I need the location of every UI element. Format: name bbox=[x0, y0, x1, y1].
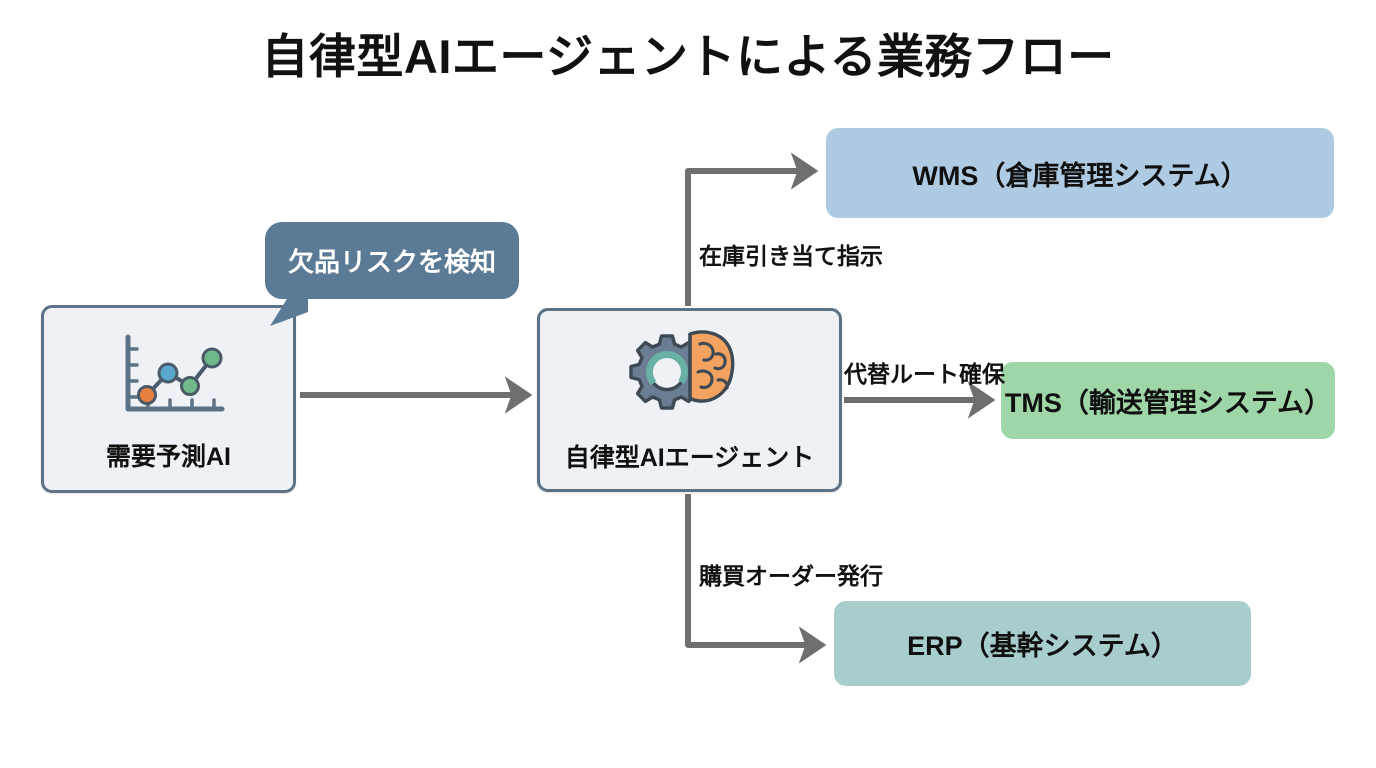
page-title: 自律型AIエージェントによる業務フロー bbox=[0, 18, 1376, 87]
node-label-wms: WMS（倉庫管理システム） bbox=[912, 154, 1247, 193]
node-demand-forecast-ai[interactable]: 需要予測AI bbox=[41, 305, 296, 493]
node-autonomous-ai-agent[interactable]: 自律型AIエージェント bbox=[537, 308, 842, 492]
edge-label-inventory-allocation: 在庫引き当て指示 bbox=[699, 237, 883, 271]
diagram-canvas: 自律型AIエージェントによる業務フロー bbox=[0, 0, 1376, 768]
line-chart-icon bbox=[104, 329, 234, 430]
node-label-demand-forecast-ai: 需要予測AI bbox=[106, 444, 231, 472]
node-tms[interactable]: TMS（輸送管理システム） bbox=[1001, 362, 1335, 439]
node-label-erp: ERP（基幹システム） bbox=[907, 624, 1178, 663]
node-label-autonomous-ai-agent: 自律型AIエージェント bbox=[565, 445, 815, 473]
callout-bubble-text: 欠品リスクを検知 bbox=[288, 242, 496, 279]
gear-brain-icon bbox=[628, 328, 752, 437]
node-label-tms: TMS（輸送管理システム） bbox=[1005, 381, 1331, 420]
edge-label-alternate-route: 代替ルート確保 bbox=[844, 355, 1005, 389]
callout-bubble-tail bbox=[268, 288, 310, 328]
edge-label-purchase-order: 購買オーダー発行 bbox=[699, 557, 883, 591]
node-wms[interactable]: WMS（倉庫管理システム） bbox=[826, 128, 1334, 218]
node-erp[interactable]: ERP（基幹システム） bbox=[834, 601, 1251, 686]
